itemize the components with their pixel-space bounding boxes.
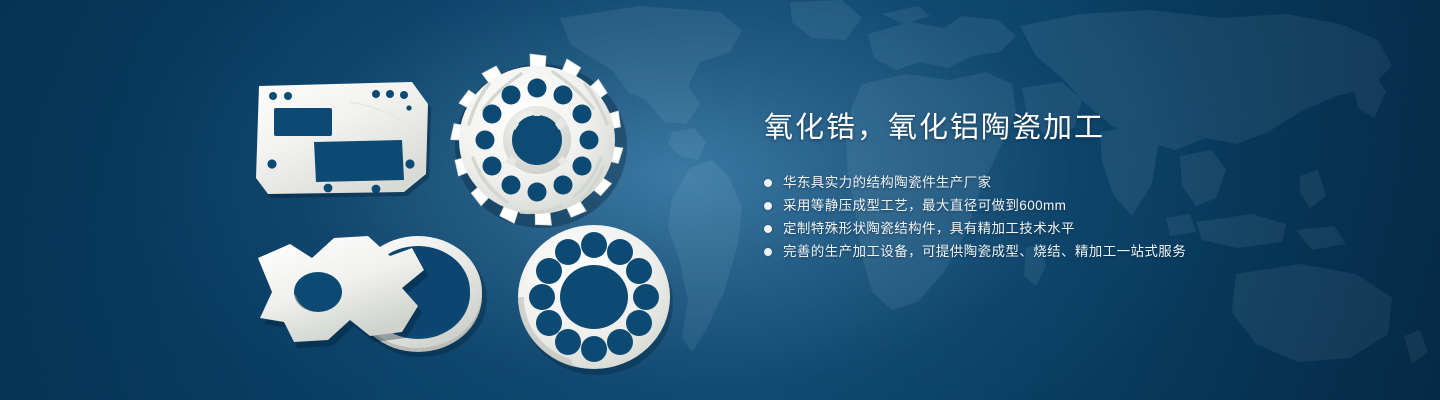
- list-item-label: 采用等静压成型工艺，最大直径可做到600mm: [783, 194, 1066, 217]
- list-item: 定制特殊形状陶瓷结构件，具有精加工技术水平: [764, 217, 1384, 240]
- list-item-label: 定制特殊形状陶瓷结构件，具有精加工技术水平: [783, 217, 1075, 240]
- ceramic-impeller-part: [440, 48, 635, 228]
- bullet-dot-icon: [764, 179, 772, 187]
- promo-banner: 氧化锆，氧化铝陶瓷加工 华东具实力的结构陶瓷件生产厂家 采用等静压成型工艺，最大…: [0, 0, 1440, 400]
- ceramic-cross-plate-part: [250, 222, 508, 364]
- bullet-dot-icon: [764, 225, 772, 233]
- list-item-label: 完善的生产加工设备，可提供陶瓷成型、烧结、精加工一站式服务: [783, 240, 1186, 263]
- ceramic-hole-disc-part: [508, 218, 680, 376]
- ceramic-plate-part: [252, 78, 432, 200]
- bullet-dot-icon: [764, 202, 772, 210]
- bullet-dot-icon: [764, 248, 772, 256]
- list-item: 完善的生产加工设备，可提供陶瓷成型、烧结、精加工一站式服务: [764, 240, 1384, 263]
- banner-feature-list: 华东具实力的结构陶瓷件生产厂家 采用等静压成型工艺，最大直径可做到600mm 定…: [764, 171, 1384, 263]
- list-item: 华东具实力的结构陶瓷件生产厂家: [764, 171, 1384, 194]
- banner-text-block: 氧化锆，氧化铝陶瓷加工 华东具实力的结构陶瓷件生产厂家 采用等静压成型工艺，最大…: [764, 108, 1384, 263]
- list-item: 采用等静压成型工艺，最大直径可做到600mm: [764, 194, 1384, 217]
- ceramic-parts-group: [0, 0, 740, 400]
- list-item-label: 华东具实力的结构陶瓷件生产厂家: [783, 171, 992, 194]
- banner-headline: 氧化锆，氧化铝陶瓷加工: [764, 108, 1384, 148]
